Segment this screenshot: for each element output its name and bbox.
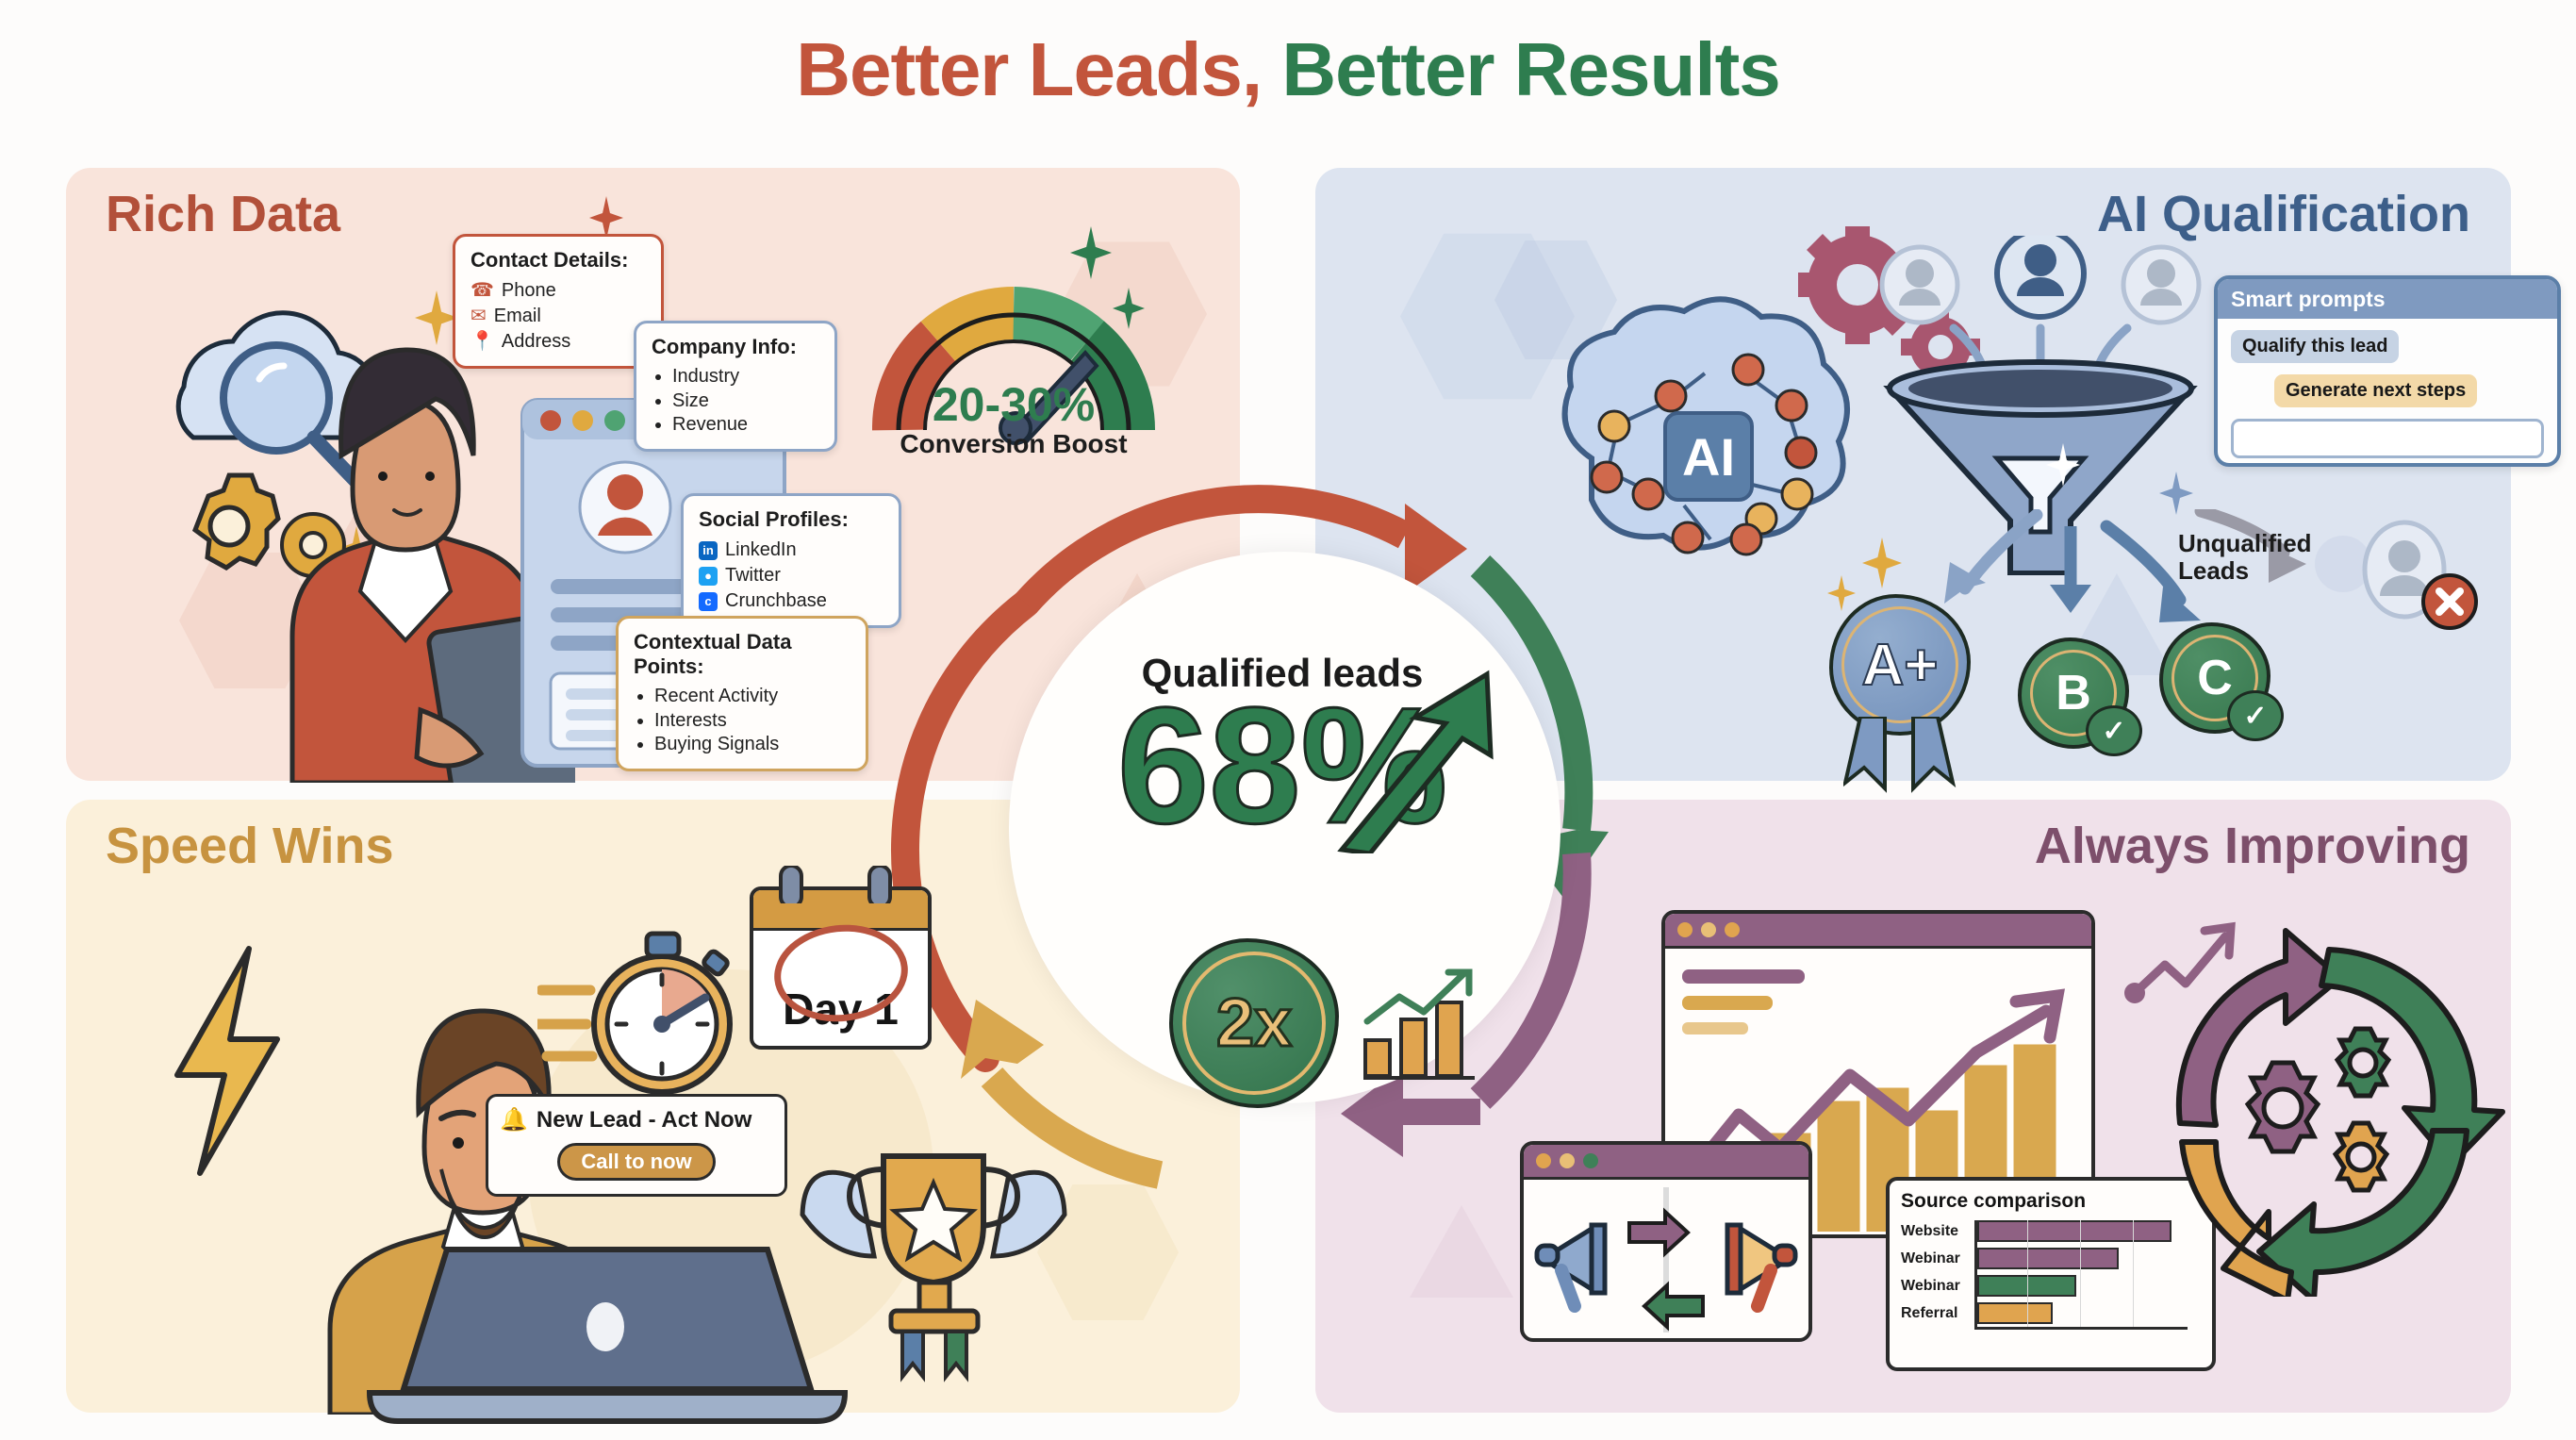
- unqualified-leads-label: UnqualifiedLeads: [2178, 530, 2376, 585]
- mini-bar-chart-icon: [1358, 967, 1480, 1084]
- title-part-1: Better Leads,: [796, 27, 1262, 111]
- ribbon-tails-icon: [1843, 717, 1957, 798]
- window-dot: [1677, 922, 1693, 937]
- social-label-linkedin: LinkedIn: [725, 538, 797, 563]
- crunchbase-icon: c: [699, 592, 718, 611]
- map-pin-icon: 📍: [471, 329, 494, 355]
- window-titlebar: [1665, 914, 2091, 949]
- bell-icon: 🔔: [500, 1106, 528, 1134]
- social-card-title: Social Profiles:: [699, 507, 883, 532]
- social-row-linkedin: in LinkedIn: [699, 538, 883, 563]
- grade-badge-a-plus: A+: [1829, 594, 1971, 736]
- source-label: Referral: [1901, 1305, 1971, 1322]
- growth-arrow-icon: [1334, 665, 1504, 853]
- heading-always-improving: Always Improving: [2035, 817, 2470, 875]
- svg-text:AI: AI: [1682, 427, 1735, 487]
- heading-ai-qualification: AI Qualification: [2097, 185, 2470, 243]
- social-row-crunchbase: c Crunchbase: [699, 588, 883, 614]
- linkedin-icon: in: [699, 541, 718, 560]
- company-info-card: Company Info: Industry Size Revenue: [634, 321, 837, 452]
- new-lead-notification[interactable]: 🔔 New Lead - Act Now Call to now: [486, 1094, 787, 1197]
- call-now-button[interactable]: Call to now: [557, 1143, 715, 1181]
- calendar-rings-icon: [771, 866, 903, 903]
- source-label: Webinar: [1901, 1278, 1971, 1295]
- window-dot: [1701, 922, 1716, 937]
- contact-label-phone: Phone: [502, 278, 556, 304]
- stopwatch-icon: [537, 922, 745, 1111]
- source-label: Webinar: [1901, 1250, 1971, 1267]
- heading-speed-wins: Speed Wins: [106, 817, 394, 875]
- phone-icon: ☎: [471, 278, 494, 304]
- contact-details-card: Contact Details: ☎ Phone ✉ Email 📍 Addre…: [453, 234, 664, 369]
- calendar-body: Day 1: [753, 931, 928, 1050]
- social-label-crunchbase: Crunchbase: [725, 588, 827, 614]
- badge-2x: 2x: [1169, 938, 1339, 1108]
- prompt-bubble-qualify[interactable]: Qualify this lead: [2231, 330, 2399, 363]
- window-dot: [1536, 1153, 1551, 1168]
- company-item: Size: [672, 389, 819, 414]
- context-card-title: Contextual Data Points:: [634, 630, 850, 679]
- window-dot: [1560, 1153, 1575, 1168]
- heading-rich-data: Rich Data: [106, 185, 340, 243]
- social-row-twitter: ● Twitter: [699, 563, 883, 588]
- badge-2x-label: 2x: [1169, 938, 1339, 1108]
- contact-label-email: Email: [494, 304, 541, 329]
- check-icon: ✓: [2227, 690, 2284, 741]
- megaphone-icon: [1727, 1225, 1795, 1306]
- social-label-twitter: Twitter: [725, 563, 781, 588]
- page-title: Better Leads, Better Results: [0, 26, 2576, 113]
- contextual-data-card: Contextual Data Points: Recent Activity …: [616, 616, 868, 771]
- trophy-award-icon: [797, 1113, 1070, 1386]
- contact-label-address: Address: [502, 329, 570, 355]
- megaphone-icon: [1537, 1225, 1605, 1306]
- grade-badge-c: C ✓: [2159, 622, 2271, 734]
- contact-card-title: Contact Details:: [471, 248, 646, 273]
- envelope-icon: ✉: [471, 304, 487, 329]
- social-profiles-card: Social Profiles: in LinkedIn ● Twitter c…: [681, 493, 901, 628]
- ab-test-window[interactable]: [1520, 1141, 1812, 1342]
- context-item: Recent Activity: [654, 685, 850, 709]
- company-card-title: Company Info:: [652, 335, 819, 359]
- context-item: Interests: [654, 709, 850, 734]
- notification-text: New Lead - Act Now: [537, 1107, 751, 1134]
- hub-percent: 68%: [952, 684, 1612, 849]
- source-label: Website: [1901, 1223, 1971, 1240]
- infographic-canvas: Better Leads, Better Results Rich Data A…: [0, 0, 2576, 1440]
- window-titlebar: [1524, 1145, 1808, 1180]
- grade-badge-b: B ✓: [2018, 637, 2129, 749]
- company-item: Revenue: [672, 413, 819, 438]
- continuous-improvement-cycle: [2129, 901, 2525, 1297]
- ab-test-graphic: [1524, 1180, 1808, 1340]
- window-dot: [1725, 922, 1740, 937]
- grade-label-a-plus: A+: [1829, 594, 1971, 736]
- smart-prompts-panel[interactable]: Smart prompts Qualify this lead Generate…: [2214, 275, 2561, 467]
- twitter-icon: ●: [699, 567, 718, 586]
- unqualified-avatar-icon: [2348, 517, 2480, 639]
- prompt-bubble-next-steps[interactable]: Generate next steps: [2274, 374, 2477, 407]
- contact-row-phone: ☎ Phone: [471, 278, 646, 304]
- check-icon: ✓: [2086, 705, 2142, 756]
- window-dot: [1583, 1153, 1598, 1168]
- prompt-input[interactable]: [2231, 419, 2544, 458]
- calendar-day-1: Day 1: [750, 886, 932, 1050]
- laptop-icon: [349, 1240, 849, 1429]
- context-item: Buying Signals: [654, 733, 850, 757]
- company-item: Industry: [672, 365, 819, 389]
- contact-row-address: 📍 Address: [471, 329, 646, 355]
- title-part-2: Better Results: [1262, 27, 1780, 111]
- prompts-title: Smart prompts: [2218, 279, 2557, 319]
- contact-row-email: ✉ Email: [471, 304, 646, 329]
- notification-header: 🔔 New Lead - Act Now: [500, 1106, 773, 1134]
